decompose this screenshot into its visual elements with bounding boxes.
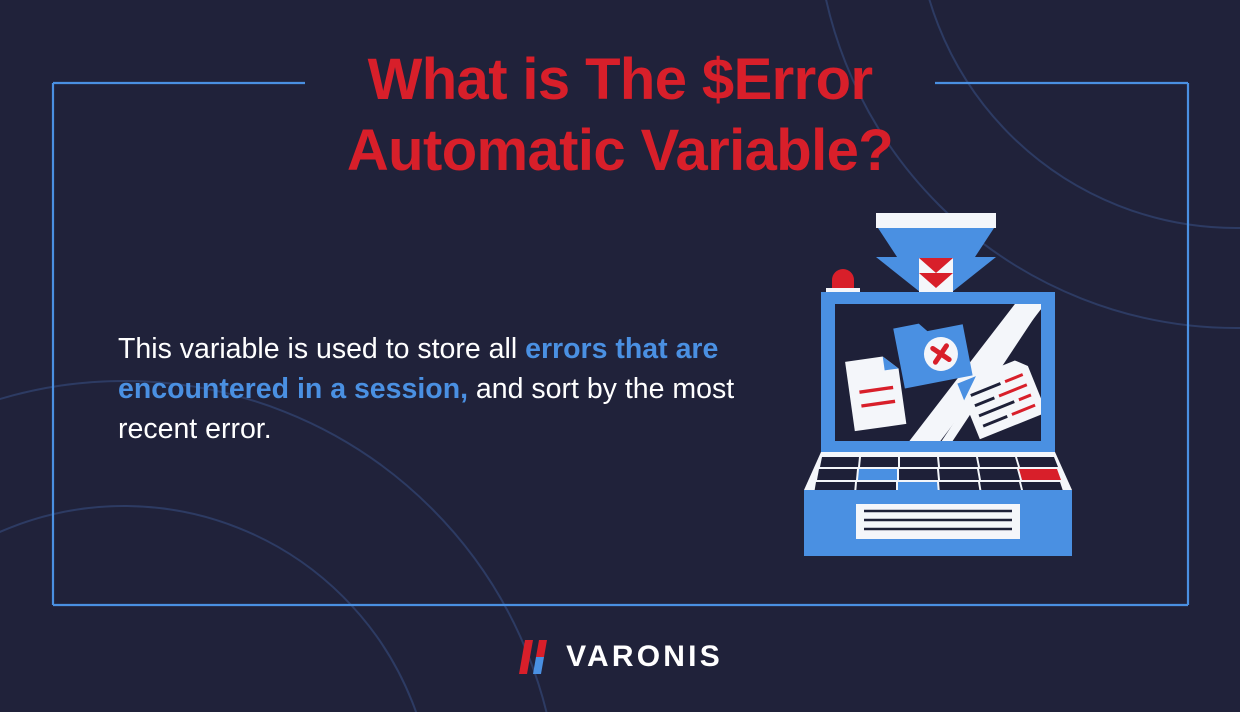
- key-r1-c1-highlight: [858, 469, 897, 480]
- logo-stroke-1-red: [519, 640, 533, 674]
- key-r1-c0: [817, 469, 857, 480]
- funnel-top-bar-icon: [876, 213, 996, 228]
- logo-stroke-2-bottom-blue: [533, 657, 544, 674]
- key-r0-c2: [900, 457, 938, 467]
- key-r1-c5-highlight: [1019, 469, 1061, 480]
- varonis-logo-mark-icon: [517, 640, 553, 674]
- key-r1-c3: [939, 469, 979, 480]
- decor-arc-bottom-left-inner: [0, 506, 434, 712]
- title-line-2: Automatic Variable?: [0, 115, 1240, 186]
- key-r1-c4: [979, 469, 1020, 480]
- logo-stroke-2-top-red: [536, 640, 547, 657]
- laptop-error-funnel-illustration: [780, 200, 1100, 570]
- trackpad-icon: [856, 504, 1020, 539]
- body-copy-part-1: This variable is used to store all: [118, 333, 525, 365]
- key-r0-c4: [978, 457, 1018, 467]
- key-r1-c2: [899, 469, 938, 480]
- title-line-1: What is The $Error: [0, 44, 1240, 115]
- key-r0-c1: [860, 457, 898, 467]
- key-r0-c5: [1017, 457, 1058, 467]
- varonis-logo: VARONIS: [0, 640, 1240, 674]
- key-r0-c3: [939, 457, 978, 467]
- slide-canvas: What is The $Error Automatic Variable? T…: [0, 0, 1240, 712]
- page-title: What is The $Error Automatic Variable?: [0, 44, 1240, 187]
- varonis-wordmark: VARONIS: [566, 642, 723, 672]
- body-copy: This variable is used to store all error…: [118, 329, 738, 450]
- title-block: What is The $Error Automatic Variable?: [0, 44, 1240, 187]
- key-r0-c0: [820, 457, 859, 467]
